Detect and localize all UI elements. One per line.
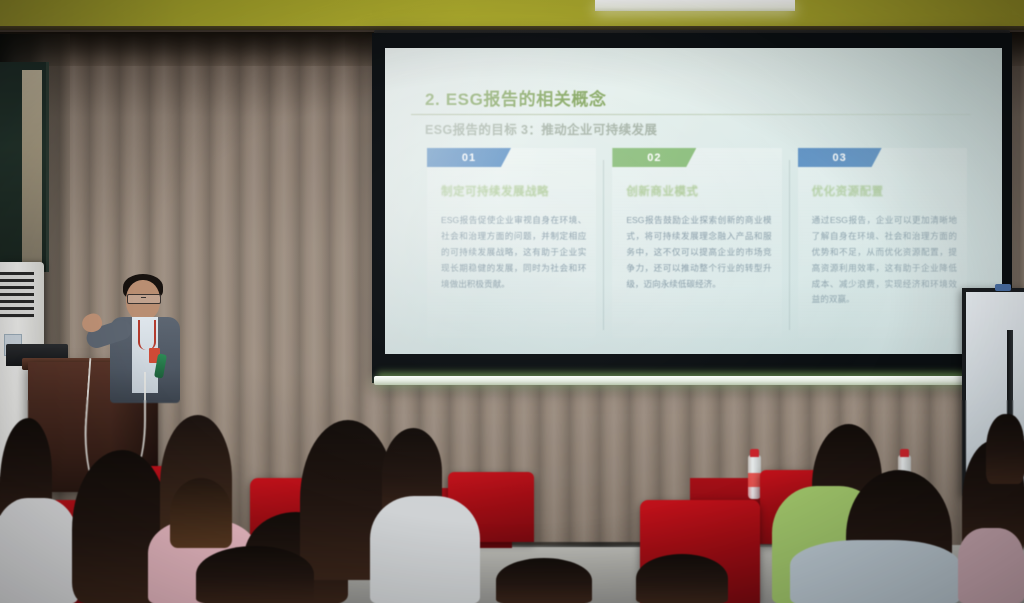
projector-screen-bottom-bar bbox=[374, 376, 1012, 385]
card-number-badge-02: 02 bbox=[612, 148, 696, 167]
speaker-lanyard bbox=[138, 320, 156, 350]
audience-hair-14 bbox=[170, 478, 232, 548]
card-body-03: 通过ESG报告，企业可以更加清晰地了解自身在环境、社会和治理方面的优势和不足，从… bbox=[812, 213, 957, 308]
slide-card-01: 01 制定可持续发展战略 ESG报告促使企业审视自身在环境、社会和治理方面的问题… bbox=[427, 148, 596, 338]
card-body-01: ESG报告促使企业审视自身在环境、社会和治理方面的问题，并制定相应的可持续发展战… bbox=[441, 213, 586, 292]
slide-card-03: 03 优化资源配置 通过ESG报告，企业可以更加清晰地了解自身在环境、社会和治理… bbox=[798, 148, 967, 338]
speaker-glasses bbox=[127, 294, 161, 304]
card-divider-02 bbox=[789, 160, 790, 330]
conference-hall-photo: 2. ESG报告的相关概念 ESG报告的目标 3：推动企业可持续发展 01 制定… bbox=[0, 0, 1024, 603]
card-heading-03: 优化资源配置 bbox=[812, 183, 967, 199]
presentation-slide: 2. ESG报告的相关概念 ESG报告的目标 3：推动企业可持续发展 01 制定… bbox=[385, 48, 1002, 354]
slide-title: 2. ESG报告的相关概念 bbox=[425, 85, 607, 110]
audience-hair-12 bbox=[496, 558, 592, 603]
projector-screen-surface: 2. ESG报告的相关概念 ESG报告的目标 3：推动企业可持续发展 01 制定… bbox=[385, 48, 1002, 354]
card-heading-02: 创新商业模式 bbox=[626, 183, 781, 199]
slide-title-rule bbox=[411, 114, 971, 115]
air-conditioner-vents bbox=[0, 272, 34, 318]
card-divider-01 bbox=[603, 160, 604, 330]
audience-shoulders-8 bbox=[790, 540, 960, 603]
card-number-badge-03: 03 bbox=[798, 148, 882, 167]
bottle-cap-left bbox=[750, 449, 759, 457]
audience-hair-10 bbox=[986, 414, 1024, 484]
card-number-badge-01: 01 bbox=[427, 148, 511, 167]
ceiling-light-panel bbox=[595, 0, 795, 11]
slide-card-row: 01 制定可持续发展战略 ESG报告促使企业审视自身在环境、社会和治理方面的问题… bbox=[427, 148, 967, 338]
audience-shoulders-9 bbox=[958, 528, 1024, 603]
card-heading-01: 制定可持续发展战略 bbox=[441, 183, 596, 199]
bottle-cap-right bbox=[900, 449, 909, 457]
whiteboard-clip bbox=[995, 284, 1011, 291]
card-body-02: ESG报告鼓励企业探索创新的商业模式，将可持续发展理念融入产品和服务中，这不仅可… bbox=[626, 213, 771, 292]
slide-subtitle: ESG报告的目标 3：推动企业可持续发展 bbox=[425, 119, 657, 138]
audience-shoulders-6 bbox=[370, 496, 480, 603]
audience-hair-11 bbox=[196, 546, 314, 603]
audience-shoulders-1 bbox=[0, 498, 78, 603]
slide-card-02: 02 创新商业模式 ESG报告鼓励企业探索创新的商业模式，将可持续发展理念融入产… bbox=[612, 148, 781, 338]
audience-hair-13 bbox=[636, 554, 728, 603]
window-pane bbox=[22, 70, 42, 265]
